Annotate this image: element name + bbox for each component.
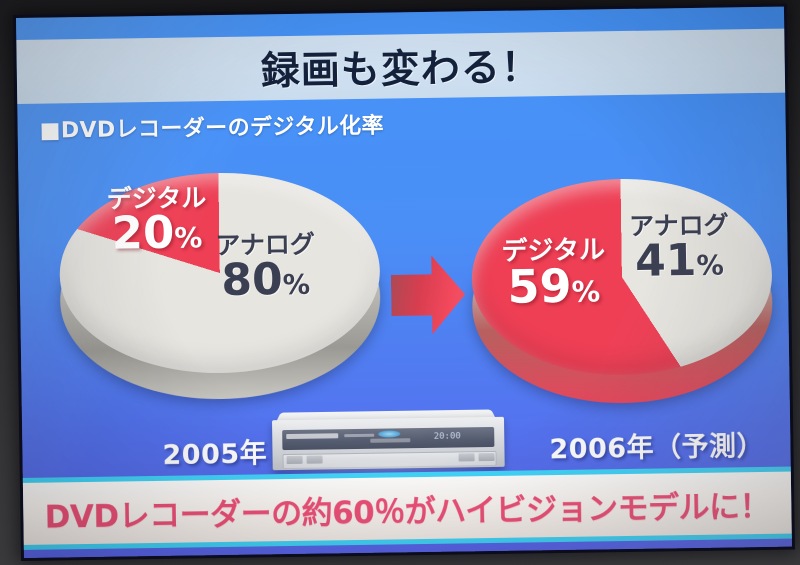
pie-2006-digital-label: デジタル 59% xyxy=(501,237,606,310)
recorder-model-mark xyxy=(344,434,374,437)
slide-subtitle: ■DVDレコーダーのデジタル化率 xyxy=(39,108,384,145)
recorder-front-panel: 20:00 xyxy=(282,427,494,450)
year-label-2006: 2006年（予測） xyxy=(549,424,764,466)
year-label-2005: 2005年 xyxy=(162,431,267,472)
recorder-logo-icon xyxy=(378,430,400,437)
pie-2006-digital-value: 59% xyxy=(502,262,606,310)
screenshot-root: 録画も変わる！ ■DVDレコーダーのデジタル化率 デジタル 20% アナログ 8… xyxy=(0,0,800,565)
pie-2005-analog-label: アナログ 80% xyxy=(215,232,316,304)
pie-2005-digital-value: 20% xyxy=(107,209,207,256)
slide-title: 録画も変わる！ xyxy=(16,30,785,103)
bottom-banner-text: DVDレコーダーの約60％がハイビジョンモデルに！ xyxy=(44,480,770,536)
bottom-banner: DVDレコーダーの約60％がハイビジョンモデルに！ xyxy=(23,467,792,550)
subtitle-text: ■DVDレコーダーのデジタル化率 xyxy=(39,108,384,145)
recorder-brand-mark xyxy=(286,433,338,439)
dvd-recorder-product-image: 20:00 xyxy=(272,409,505,474)
pie-2005-analog-value: 80% xyxy=(216,257,316,303)
recorder-logo-text xyxy=(370,438,410,443)
pie-2005-digital-label: デジタル 20% xyxy=(107,185,208,256)
pie-2006-analog-value: 41% xyxy=(629,238,729,284)
right-arrow-icon xyxy=(391,253,466,336)
presentation-slide: 録画も変わる！ ■DVDレコーダーのデジタル化率 デジタル 20% アナログ 8… xyxy=(16,7,792,558)
pie-2006-analog-label: アナログ 41% xyxy=(629,212,730,284)
recorder-display: 20:00 xyxy=(430,431,464,443)
